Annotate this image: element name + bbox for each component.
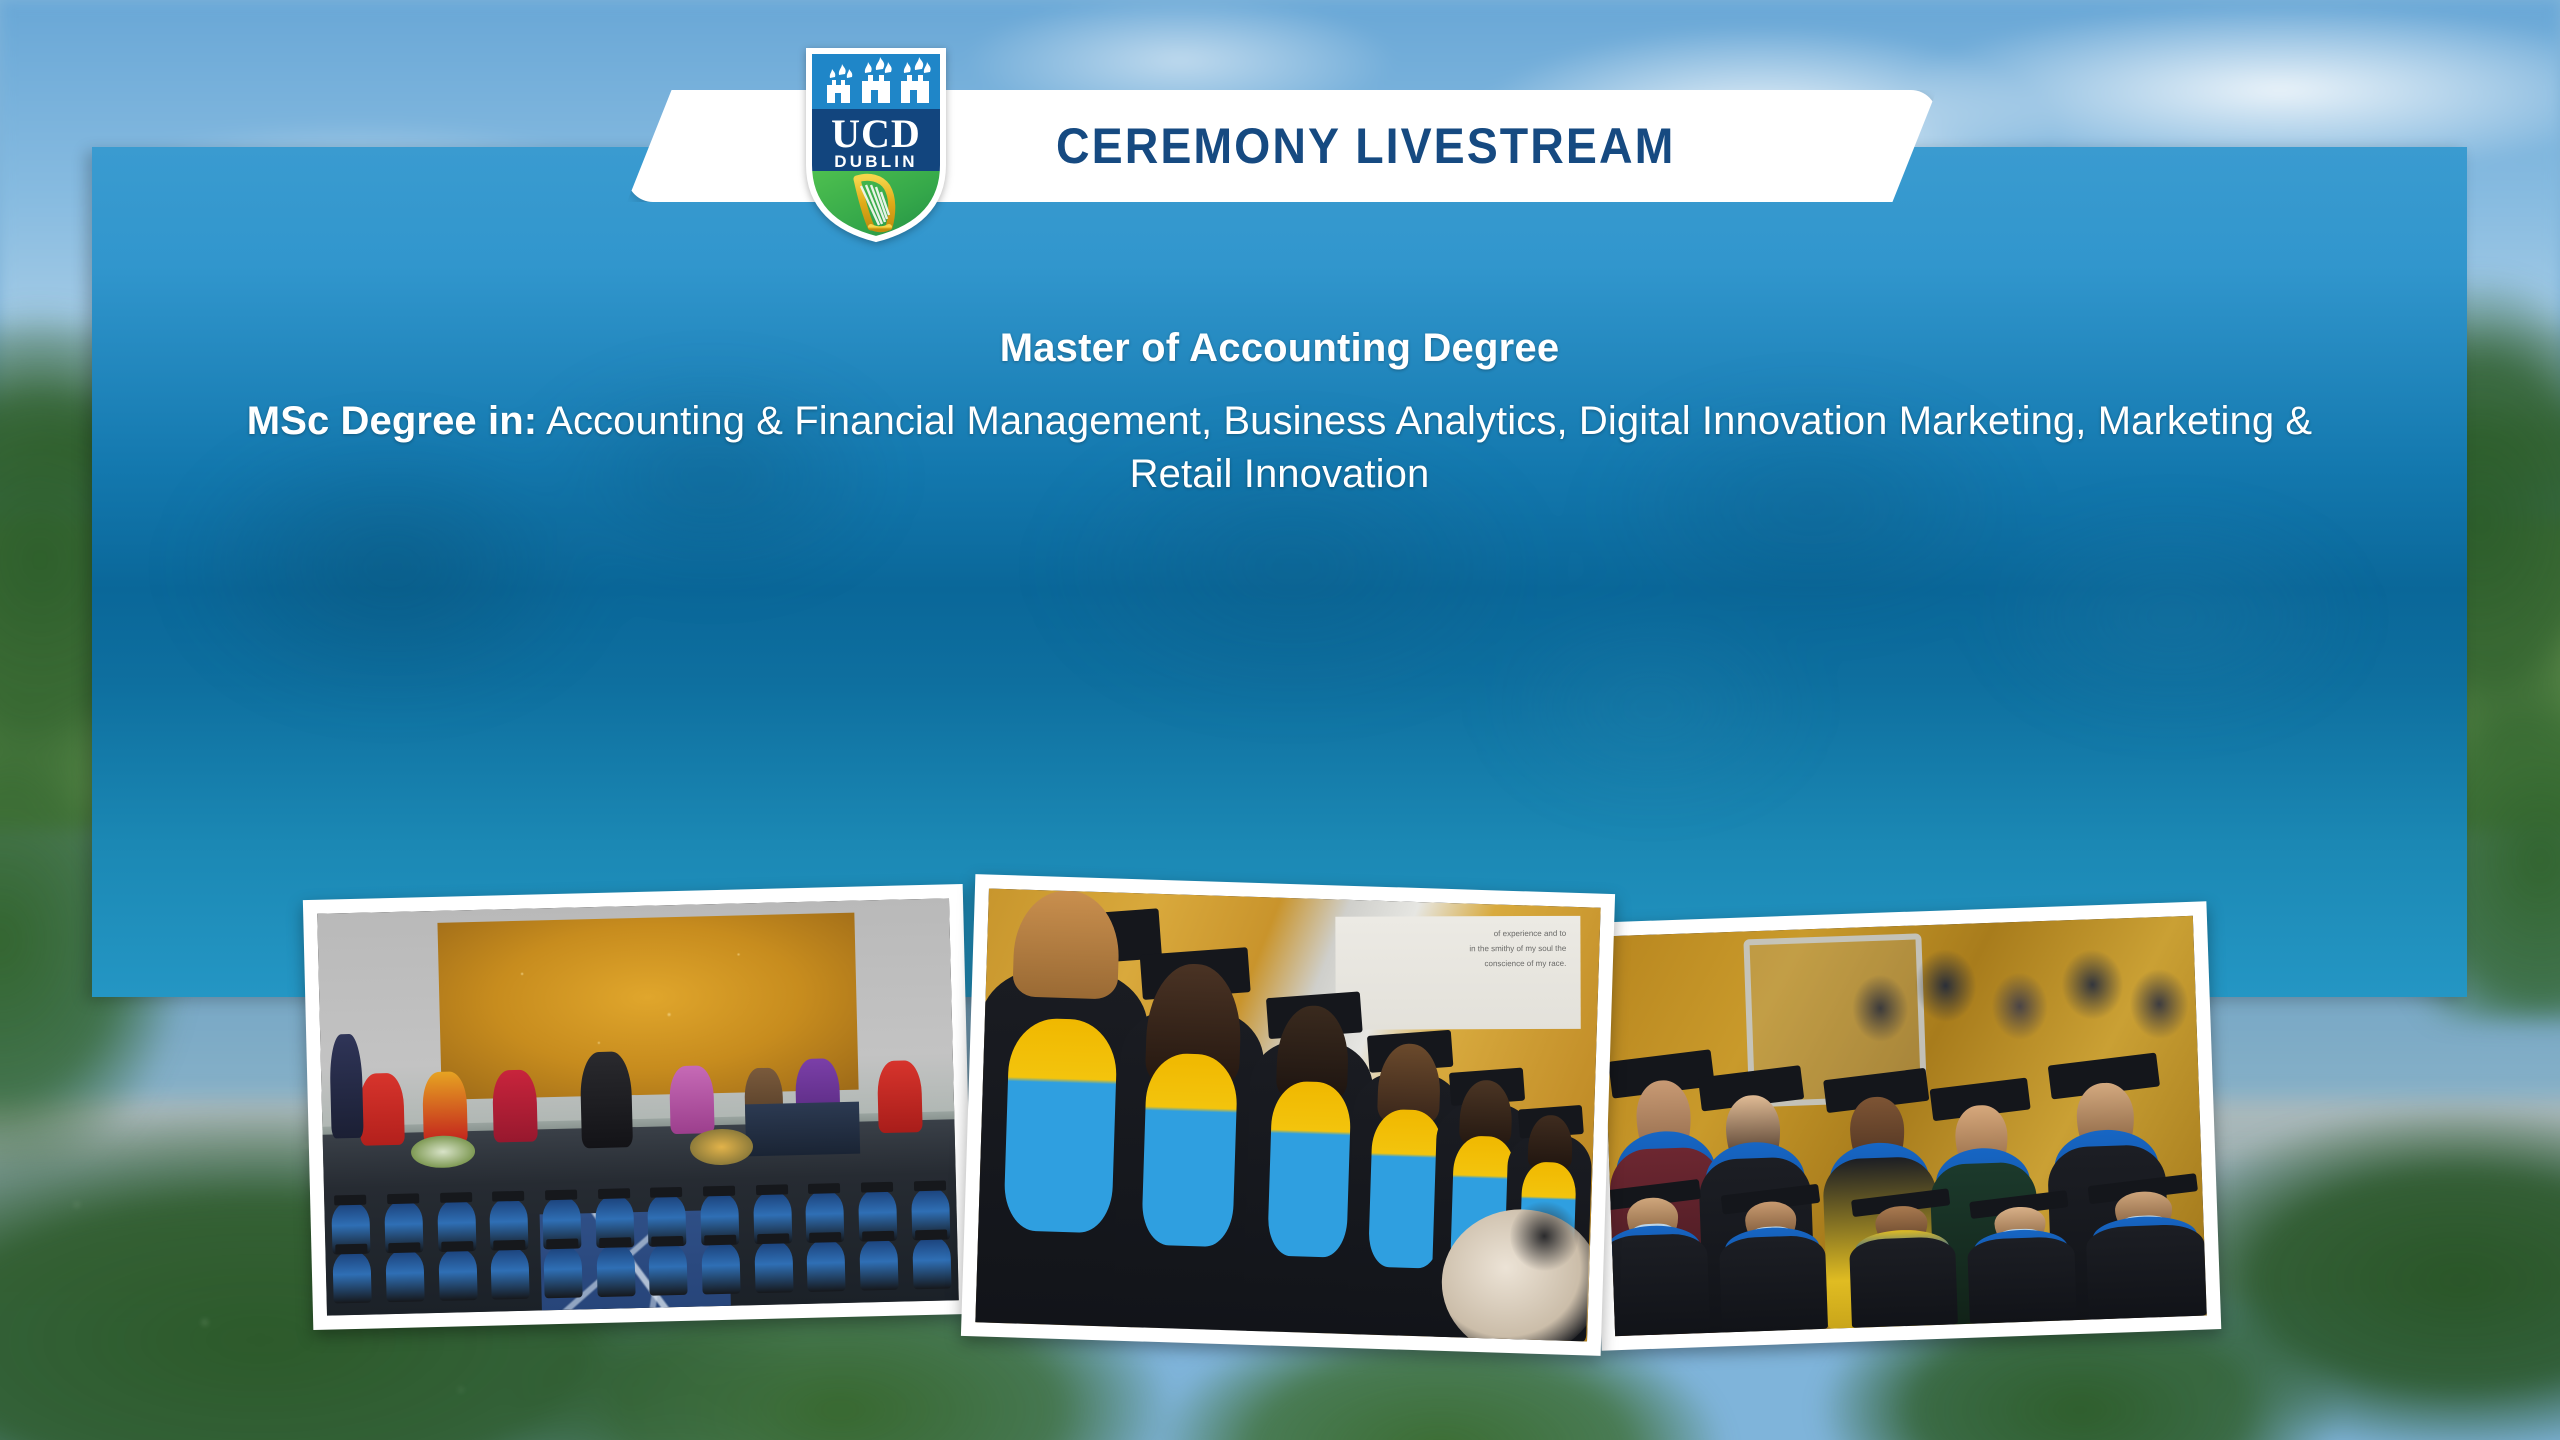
panel-texture bbox=[92, 147, 2467, 997]
ceremony-stage-photo bbox=[303, 884, 973, 1330]
svg-text:UCD: UCD bbox=[831, 111, 921, 156]
degree-title: Master of Accounting Degree bbox=[212, 322, 2347, 375]
msc-label: MSc Degree in: bbox=[247, 399, 537, 443]
msc-degree-line: MSc Degree in: Accounting & Financial Ma… bbox=[212, 395, 2347, 501]
degree-text-block: Master of Accounting Degree MSc Degree i… bbox=[92, 322, 2467, 502]
svg-text:DUBLIN: DUBLIN bbox=[834, 152, 917, 171]
livestream-slide: Master of Accounting Degree MSc Degree i… bbox=[0, 0, 2560, 1440]
content-panel: Master of Accounting Degree MSc Degree i… bbox=[92, 147, 2467, 997]
ucd-dublin-shield-icon: UCD DUBLIN bbox=[805, 47, 947, 243]
graduates-audience-photo bbox=[1587, 901, 2222, 1350]
graduates-procession-photo: of experience and to in the smithy of my… bbox=[961, 874, 1615, 1356]
msc-programmes: Accounting & Financial Management, Busin… bbox=[537, 399, 2312, 496]
